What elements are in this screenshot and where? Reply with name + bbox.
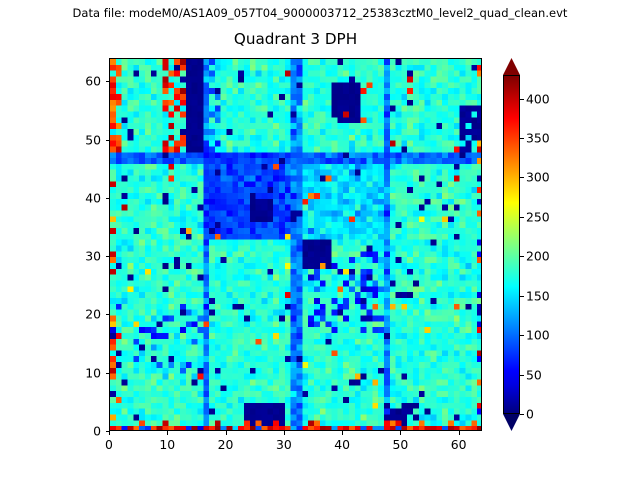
colorbar-extend-max-icon <box>503 58 520 75</box>
plot-title: Quadrant 3 DPH <box>109 30 482 48</box>
colorbar-tick-mark <box>520 335 524 336</box>
y-tick-mark <box>106 373 110 374</box>
colorbar-tick-mark <box>520 217 524 218</box>
x-tick-mark <box>342 431 343 435</box>
colorbar-tick-mark <box>520 99 524 100</box>
x-tick-mark <box>400 431 401 435</box>
y-tick-mark <box>106 81 110 82</box>
colorbar-tick-mark <box>520 296 524 297</box>
y-tick-label: 50 <box>61 132 101 147</box>
y-tick-label: 30 <box>61 249 101 264</box>
colorbar-tick-label: 350 <box>526 131 550 146</box>
colorbar-tick-label: 300 <box>526 170 550 185</box>
y-tick-label: 20 <box>61 307 101 322</box>
y-tick-label: 40 <box>61 190 101 205</box>
colorbar-tick-label: 150 <box>526 288 550 303</box>
colorbar-tick-label: 0 <box>526 407 534 422</box>
colorbar-tick-label: 400 <box>526 91 550 106</box>
colorbar-tick-label: 200 <box>526 249 550 264</box>
y-tick-label: 60 <box>61 74 101 89</box>
heatmap-axes <box>109 58 482 431</box>
colorbar-tick-label: 250 <box>526 209 550 224</box>
x-tick-label: 20 <box>218 437 234 452</box>
figure-canvas: Data file: modeM0/AS1A09_057T04_90000037… <box>0 0 640 480</box>
colorbar-tick-mark <box>520 256 524 257</box>
colorbar-tick-mark <box>520 414 524 415</box>
colorbar-tick-mark <box>520 177 524 178</box>
y-tick-mark <box>106 431 110 432</box>
colorbar-tick-mark <box>520 375 524 376</box>
y-tick-label: 0 <box>61 424 101 439</box>
datafile-annotation: Data file: modeM0/AS1A09_057T04_90000037… <box>0 6 640 20</box>
y-tick-mark <box>106 256 110 257</box>
x-tick-mark <box>459 431 460 435</box>
colorbar-tick-label: 100 <box>526 328 550 343</box>
x-tick-label: 30 <box>276 437 292 452</box>
colorbar <box>503 58 520 431</box>
x-tick-label: 50 <box>393 437 409 452</box>
x-tick-label: 10 <box>159 437 175 452</box>
y-tick-mark <box>106 198 110 199</box>
x-tick-mark <box>226 431 227 435</box>
x-tick-mark <box>167 431 168 435</box>
colorbar-extend-min-icon <box>503 414 520 431</box>
x-tick-mark <box>109 431 110 435</box>
colorbar-tick-mark <box>520 138 524 139</box>
x-tick-label: 40 <box>334 437 350 452</box>
colorbar-body <box>503 75 520 414</box>
y-tick-mark <box>106 314 110 315</box>
x-tick-mark <box>284 431 285 435</box>
heatmap-image <box>110 59 482 431</box>
x-tick-label: 0 <box>105 437 113 452</box>
colorbar-gradient <box>504 76 519 413</box>
y-tick-mark <box>106 140 110 141</box>
x-tick-label: 60 <box>451 437 467 452</box>
y-tick-label: 10 <box>61 365 101 380</box>
colorbar-tick-label: 50 <box>526 367 542 382</box>
